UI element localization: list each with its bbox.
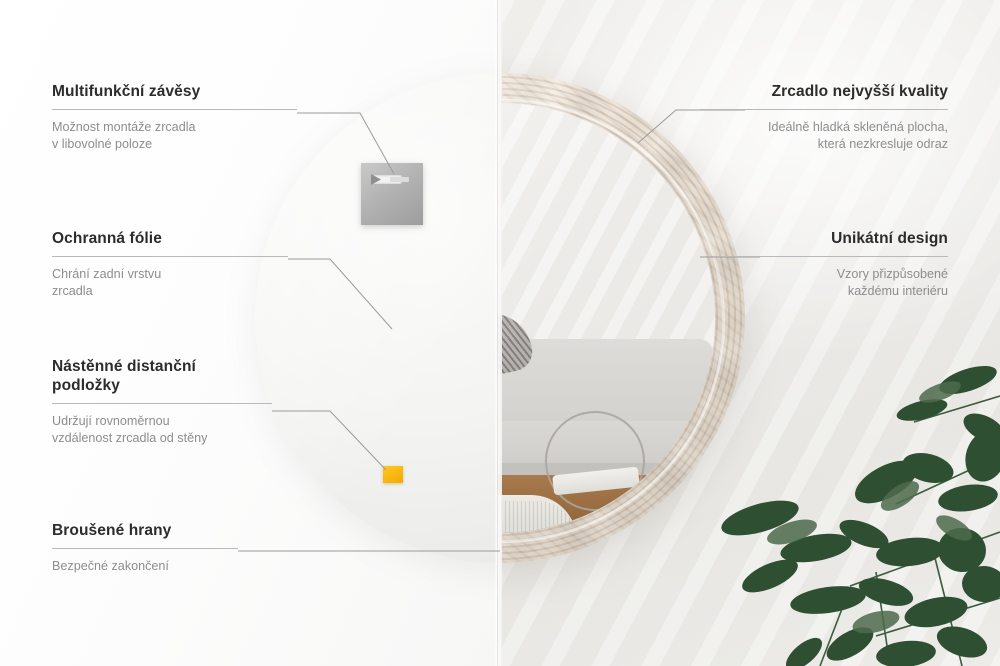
yellow-spacer-pad [383, 466, 403, 483]
bracket-slot-secondary [390, 177, 409, 182]
hanger-bracket [361, 163, 423, 225]
callout-nastenne-distancni-podlozky: Nástěnné distanční podložky Udržují rovn… [52, 357, 272, 447]
callout-rule [52, 256, 288, 257]
split-view-seam-line [497, 0, 498, 666]
callout-body: Ideálně hladká skleněná plocha, která ne… [700, 119, 948, 153]
callout-title: Broušené hrany [52, 521, 238, 540]
callout-rule [52, 109, 297, 110]
callout-body: Vzory přizpůsobené každému interiéru [712, 266, 948, 300]
callout-body: Možnost montáže zrcadla v libovolné polo… [52, 119, 297, 153]
callout-rule [52, 403, 272, 404]
callout-multifunkcni-zavesy: Multifunkční závěsy Možnost montáže zrca… [52, 82, 297, 153]
callout-title: Multifunkční závěsy [52, 82, 297, 101]
callout-title: Nástěnné distanční podložky [52, 357, 272, 395]
callout-body: Bezpečné zakončení [52, 558, 238, 575]
callout-title: Ochranná fólie [52, 229, 288, 248]
split-view-seam [494, 0, 502, 666]
callout-body: Chrání zadní vrstvu zrcadla [52, 266, 288, 300]
callout-title: Unikátní design [712, 229, 948, 248]
callout-body: Udržují rovnoměrnou vzdálenost zrcadla o… [52, 413, 272, 447]
callout-brousene-hrany: Broušené hrany Bezpečné zakončení [52, 521, 238, 575]
infographic-canvas: Multifunkční závěsy Možnost montáže zrca… [0, 0, 1000, 666]
callout-rule [52, 548, 238, 549]
callout-ochranna-folie: Ochranná fólie Chrání zadní vrstvu zrcad… [52, 229, 288, 300]
callout-title: Zrcadlo nejvyšší kvality [700, 82, 948, 101]
callout-unikatni-design: Unikátní design Vzory přizpůsobené každé… [712, 229, 948, 300]
callout-zrcadlo-nejvyssi-kvality: Zrcadlo nejvyšší kvality Ideálně hladká … [700, 82, 948, 153]
callout-rule [700, 109, 948, 110]
callout-rule [712, 256, 948, 257]
